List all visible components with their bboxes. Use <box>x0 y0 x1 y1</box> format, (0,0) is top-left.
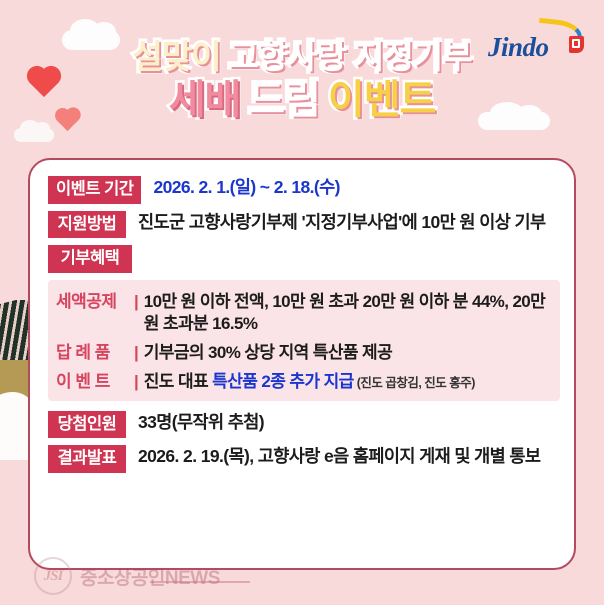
value-how-to-apply: 진도군 고향사랑기부제 '지정기부사업'에 10만 원 이상 기부 <box>126 211 560 233</box>
benefit-separator: | <box>132 292 144 312</box>
benefit-label-tax-deduction: 세액공제 <box>56 287 132 312</box>
logo-symbol-icon <box>569 36 584 53</box>
info-card: 이벤트 기간 2026. 2. 1.(일) ~ 2. 18.(수) 지원방법 진… <box>28 158 576 570</box>
benefit-label-gift: 답 례 품 <box>56 338 132 363</box>
title-word-deurim: 드림 <box>248 80 320 120</box>
heart-icon <box>57 110 78 131</box>
benefit-separator: | <box>132 343 144 363</box>
info-row-winner-count: 당첨인원 33명(무작위 추첨) <box>48 411 560 439</box>
title-word-seolmaji: 설맞이 <box>132 40 220 73</box>
benefits-panel: 세액공제 | 10만 원 이하 전액, 10만 원 초과 20만 원 이하 분 … <box>48 280 560 401</box>
title-line-2: 세배드림이벤트 <box>0 80 604 120</box>
info-row-event-period: 이벤트 기간 2026. 2. 1.(일) ~ 2. 18.(수) <box>48 176 560 204</box>
value-winner-count: 33명(무작위 추첨) <box>126 411 560 433</box>
title-word-gohyangsarang: 고향사랑 지정기부 <box>229 40 472 73</box>
benefit-text-event-highlight: 특산품 2종 추가 지급 <box>212 372 354 391</box>
badge-result-announcement: 결과발표 <box>48 445 126 473</box>
title-word-sebae: 세배 <box>169 80 241 120</box>
benefit-text-event-prefix: 진도 대표 <box>144 372 212 391</box>
badge-how-to-apply: 지원방법 <box>48 211 126 239</box>
poster-canvas: Jindo 설맞이고향사랑 지정기부 세배드림이벤트 이벤트 기간 2026. … <box>0 0 604 605</box>
info-row-result-announcement: 결과발표 2026. 2. 19.(목), 고향사랑 e음 홈페이지 게재 및 … <box>48 445 560 473</box>
badge-event-period: 이벤트 기간 <box>48 176 141 204</box>
badge-donation-benefits: 기부혜택 <box>48 245 132 273</box>
benefit-row-event: 이 벤 트 | 진도 대표 특산품 2종 추가 지급 (진도 곱창김, 진도 홍… <box>56 367 550 393</box>
jindo-logo: Jindo <box>488 20 584 64</box>
cloud-icon <box>478 112 550 130</box>
watermark-rule <box>150 581 250 583</box>
benefit-label-event: 이 벤 트 <box>56 367 132 392</box>
cloud-icon <box>14 128 54 142</box>
benefit-separator: | <box>132 372 144 392</box>
heart-icon <box>30 69 58 97</box>
benefit-text-tax-deduction: 10만 원 이하 전액, 10만 원 초과 20만 원 이하 분 44%, 20… <box>144 291 550 335</box>
value-result-announcement: 2026. 2. 19.(목), 고향사랑 e음 홈페이지 게재 및 개별 통보 <box>126 445 560 467</box>
benefit-text-event-note: (진도 곱창김, 진도 홍주) <box>354 376 475 390</box>
info-row-benefits-header: 기부혜택 <box>48 245 560 273</box>
badge-winner-count: 당첨인원 <box>48 411 126 439</box>
logo-wordmark: Jindo <box>488 32 549 63</box>
benefit-text-gift: 기부금의 30% 상당 지역 특산품 제공 <box>144 342 550 364</box>
info-row-how-to-apply: 지원방법 진도군 고향사랑기부제 '지정기부사업'에 10만 원 이상 기부 <box>48 211 560 239</box>
benefit-row-tax-deduction: 세액공제 | 10만 원 이하 전액, 10만 원 초과 20만 원 이하 분 … <box>56 287 550 335</box>
cloud-icon <box>62 30 120 50</box>
title-word-event: 이벤트 <box>328 80 435 120</box>
benefit-row-gift: 답 례 품 | 기부금의 30% 상당 지역 특산품 제공 <box>56 338 550 364</box>
benefit-text-event: 진도 대표 특산품 2종 추가 지급 (진도 곱창김, 진도 홍주) <box>144 371 550 393</box>
value-event-period: 2026. 2. 1.(일) ~ 2. 18.(수) <box>141 176 560 198</box>
